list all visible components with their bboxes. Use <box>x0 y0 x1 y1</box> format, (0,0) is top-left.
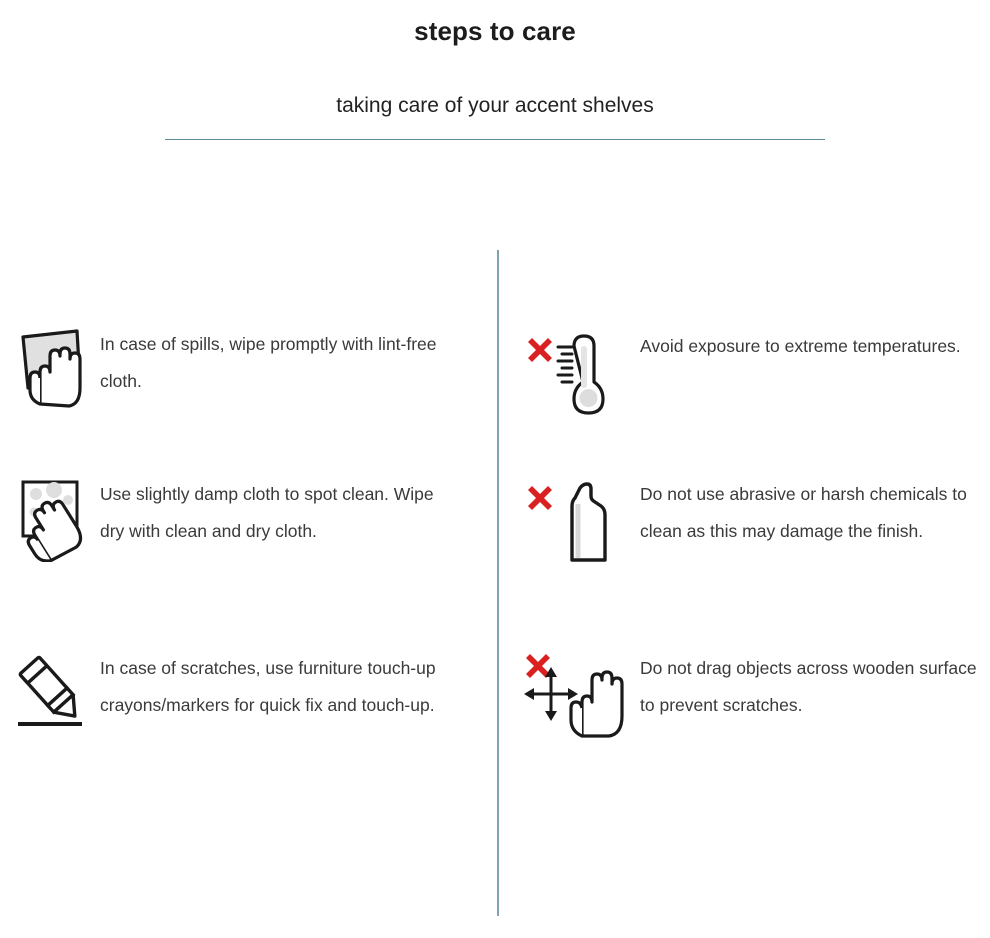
drag-hand-icon <box>522 650 640 740</box>
care-item-damp-clean: Use slightly damp cloth to spot clean. W… <box>14 476 452 562</box>
warning-x-icon <box>526 654 550 678</box>
header-divider-rule <box>165 139 825 140</box>
care-item-text: Avoid exposure to extreme temperatures. <box>640 328 961 365</box>
chemical-bottle-icon <box>522 476 640 566</box>
hand-damp-cloth-glyph <box>14 476 86 562</box>
page-title: steps to care <box>0 0 990 47</box>
care-item-dragging: Do not drag objects across wooden surfac… <box>522 650 986 740</box>
care-item-text: In case of scratches, use furniture touc… <box>100 650 452 724</box>
crayon-touchup-glyph <box>14 650 86 736</box>
page-header: steps to care taking care of your accent… <box>0 0 990 140</box>
hand-wiping-cloth-icon <box>14 326 100 412</box>
care-item-temperature: Avoid exposure to extreme temperatures. <box>522 328 961 418</box>
care-item-text: Use slightly damp cloth to spot clean. W… <box>100 476 452 550</box>
care-item-text: Do not drag objects across wooden surfac… <box>640 650 986 724</box>
care-item-chemicals: Do not use abrasive or harsh chemicals t… <box>522 476 986 566</box>
hand-damp-cloth-icon <box>14 476 100 562</box>
thermometer-icon <box>522 328 640 418</box>
page-subtitle: taking care of your accent shelves <box>0 47 990 118</box>
thermometer-glyph <box>522 328 626 418</box>
care-instructions-columns: In case of spills, wipe promptly with li… <box>0 250 990 916</box>
care-item-text: In case of spills, wipe promptly with li… <box>100 326 452 400</box>
care-item-scratch-touchup: In case of scratches, use furniture touc… <box>14 650 452 736</box>
dont-column: Avoid exposure to extreme temperatures. … <box>498 250 990 916</box>
crayon-touchup-icon <box>14 650 100 736</box>
warning-x-icon <box>528 486 552 510</box>
warning-x-icon <box>528 338 552 362</box>
chemical-bottle-glyph <box>522 476 626 566</box>
hand-wiping-cloth-glyph <box>14 326 86 412</box>
care-item-text: Do not use abrasive or harsh chemicals t… <box>640 476 986 550</box>
drag-hand-glyph <box>522 650 626 740</box>
care-item-spills: In case of spills, wipe promptly with li… <box>14 326 452 412</box>
do-column: In case of spills, wipe promptly with li… <box>0 250 498 916</box>
